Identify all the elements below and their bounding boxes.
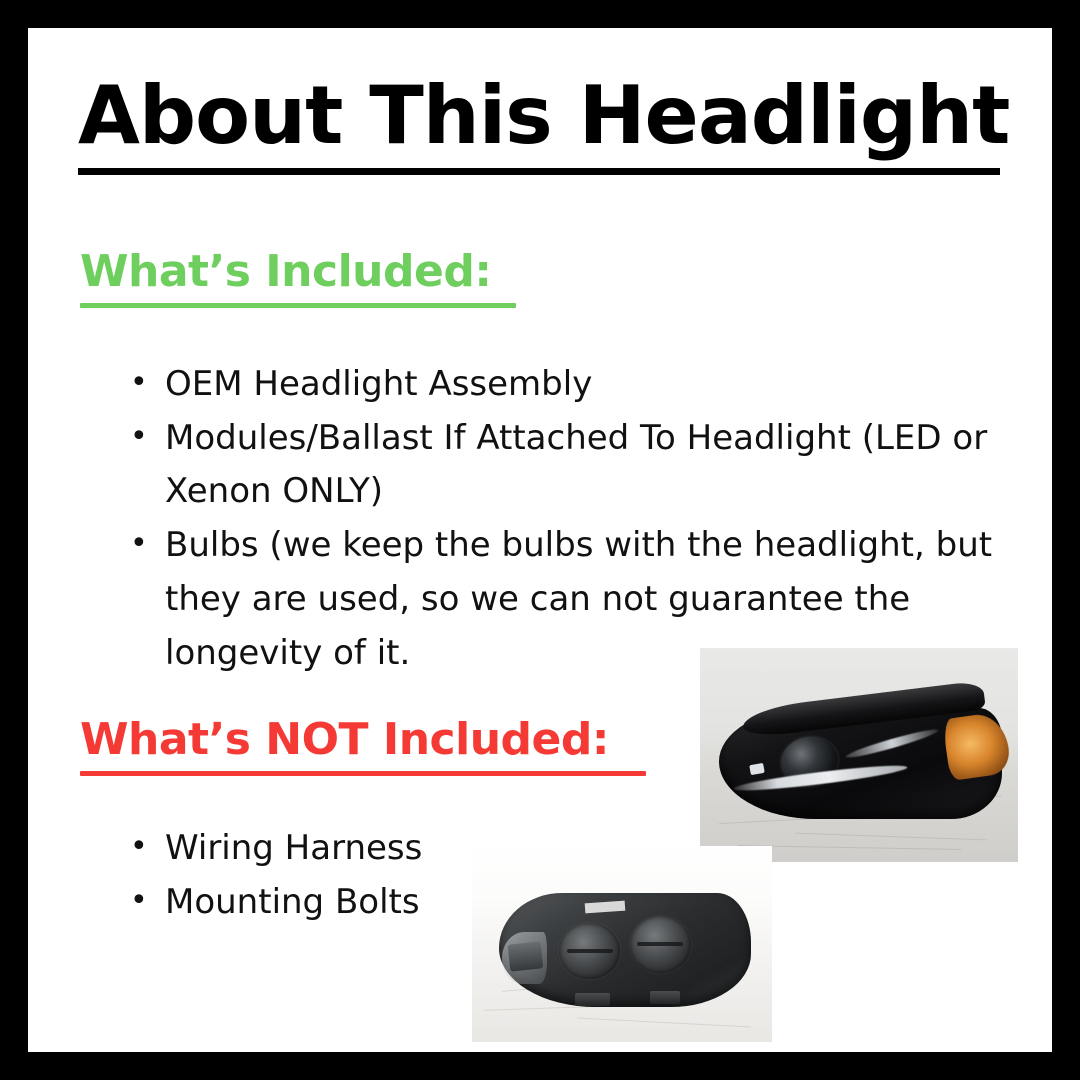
bench-scratch [577,1018,751,1028]
included-list: OEM Headlight Assembly Modules/Ballast I… [118,358,1018,680]
section-heading-included: What’s Included: [80,250,516,308]
title-underline [78,168,1000,175]
bulb-access-cap [559,923,619,980]
mounting-tab [575,993,610,1006]
lens-highlight [749,762,765,774]
list-item: Modules/Ballast If Attached To Headlight… [118,412,1018,519]
title-block: About This Headlight [78,76,1002,175]
section-heading-not-included-label: What’s NOT Included: [80,714,609,765]
list-item: OEM Headlight Assembly [118,358,1018,412]
section-heading-included-label: What’s Included: [80,246,491,297]
mounting-tab [650,991,680,1005]
section-heading-not-included: What’s NOT Included: [80,718,646,776]
headlight-rear-photo [472,846,772,1042]
headlight-rear-illustration [499,893,751,1007]
section-heading-not-included-underline [80,771,646,776]
headlight-front-photo [700,648,1018,862]
headlight-front-illustration [719,708,1002,819]
section-heading-included-underline [80,303,516,308]
bench-scratch [795,833,986,841]
page-title: About This Headlight [78,76,1002,156]
wiring-connector [508,941,543,972]
bulb-access-cap [630,916,690,973]
poster-canvas: About This Headlight What’s Included: OE… [28,28,1052,1052]
turn-signal-amber [941,711,1011,781]
poster-border-frame: About This Headlight What’s Included: OE… [0,0,1080,1080]
